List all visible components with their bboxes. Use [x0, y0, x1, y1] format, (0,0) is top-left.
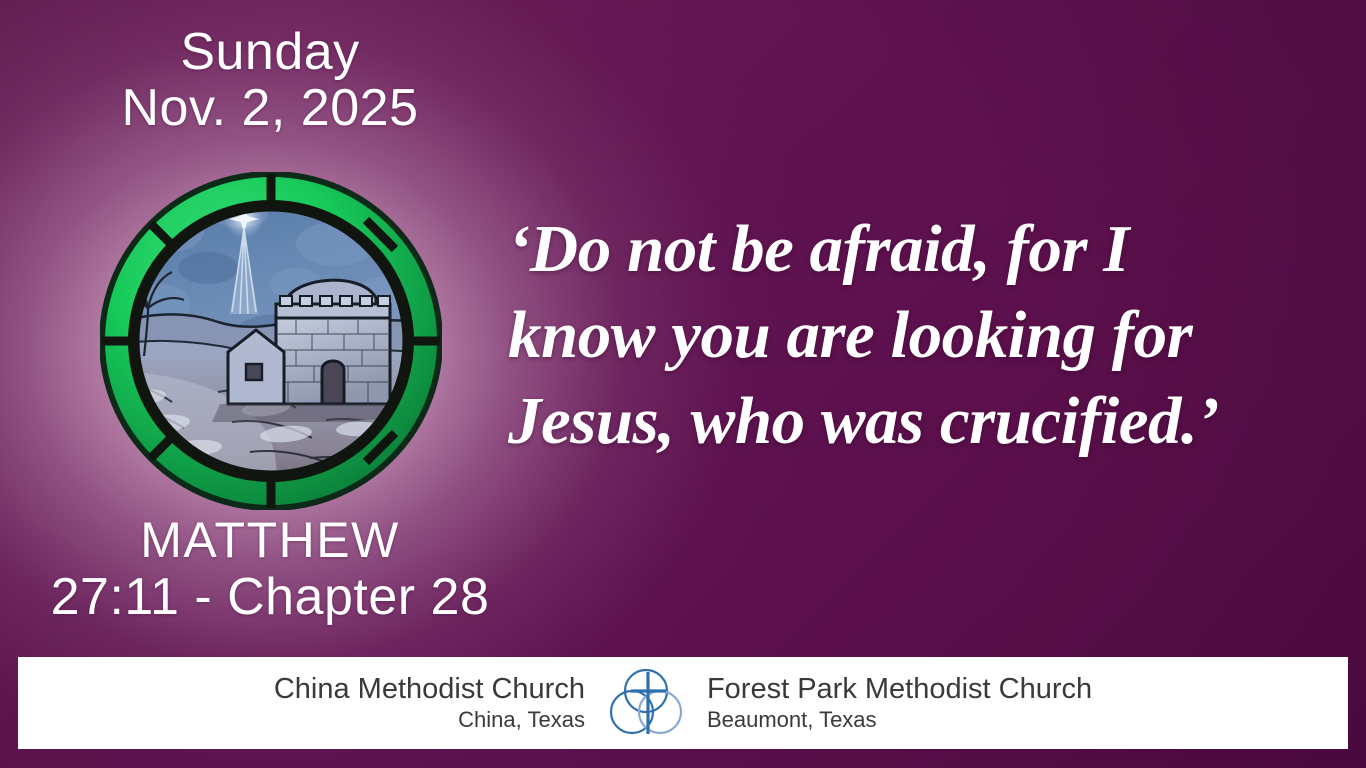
church-block-left: China Methodist Church China, Texas: [274, 673, 585, 732]
scripture-book-label: MATTHEW: [0, 512, 540, 568]
scripture-passage-label: 27:11 - Chapter 28: [0, 568, 540, 626]
service-date-label: Nov. 2, 2025: [0, 80, 540, 136]
footer-content: China Methodist Church China, Texas: [274, 664, 1092, 742]
scripture-quote: ‘Do not be afraid, for I know you are lo…: [508, 206, 1354, 464]
church-block-right: Forest Park Methodist Church Beaumont, T…: [707, 673, 1092, 732]
cross-shape: [631, 672, 666, 734]
quote-line-1: ‘Do not be afraid, for I: [508, 206, 1354, 292]
footer-bar: China Methodist Church China, Texas: [18, 657, 1348, 749]
stained-glass-window-graphic: [100, 172, 442, 510]
church-name-right: Forest Park Methodist Church: [707, 673, 1092, 707]
service-date-block: Sunday Nov. 2, 2025: [0, 24, 540, 136]
church-city-left: China, Texas: [274, 707, 585, 733]
quote-line-2: know you are looking for: [508, 292, 1354, 378]
church-city-right: Beaumont, Texas: [707, 707, 1092, 733]
service-day-label: Sunday: [0, 24, 540, 80]
trinity-circles-cross-icon: [607, 664, 685, 742]
church-name-left: China Methodist Church: [274, 673, 585, 707]
quote-line-3: Jesus, who was crucified.’: [508, 378, 1354, 464]
church-service-slide: Sunday Nov. 2, 2025: [0, 0, 1366, 768]
scripture-reference-block: MATTHEW 27:11 - Chapter 28: [0, 512, 540, 626]
tomb-doorway: [322, 361, 344, 404]
stained-glass-window: [100, 172, 442, 510]
